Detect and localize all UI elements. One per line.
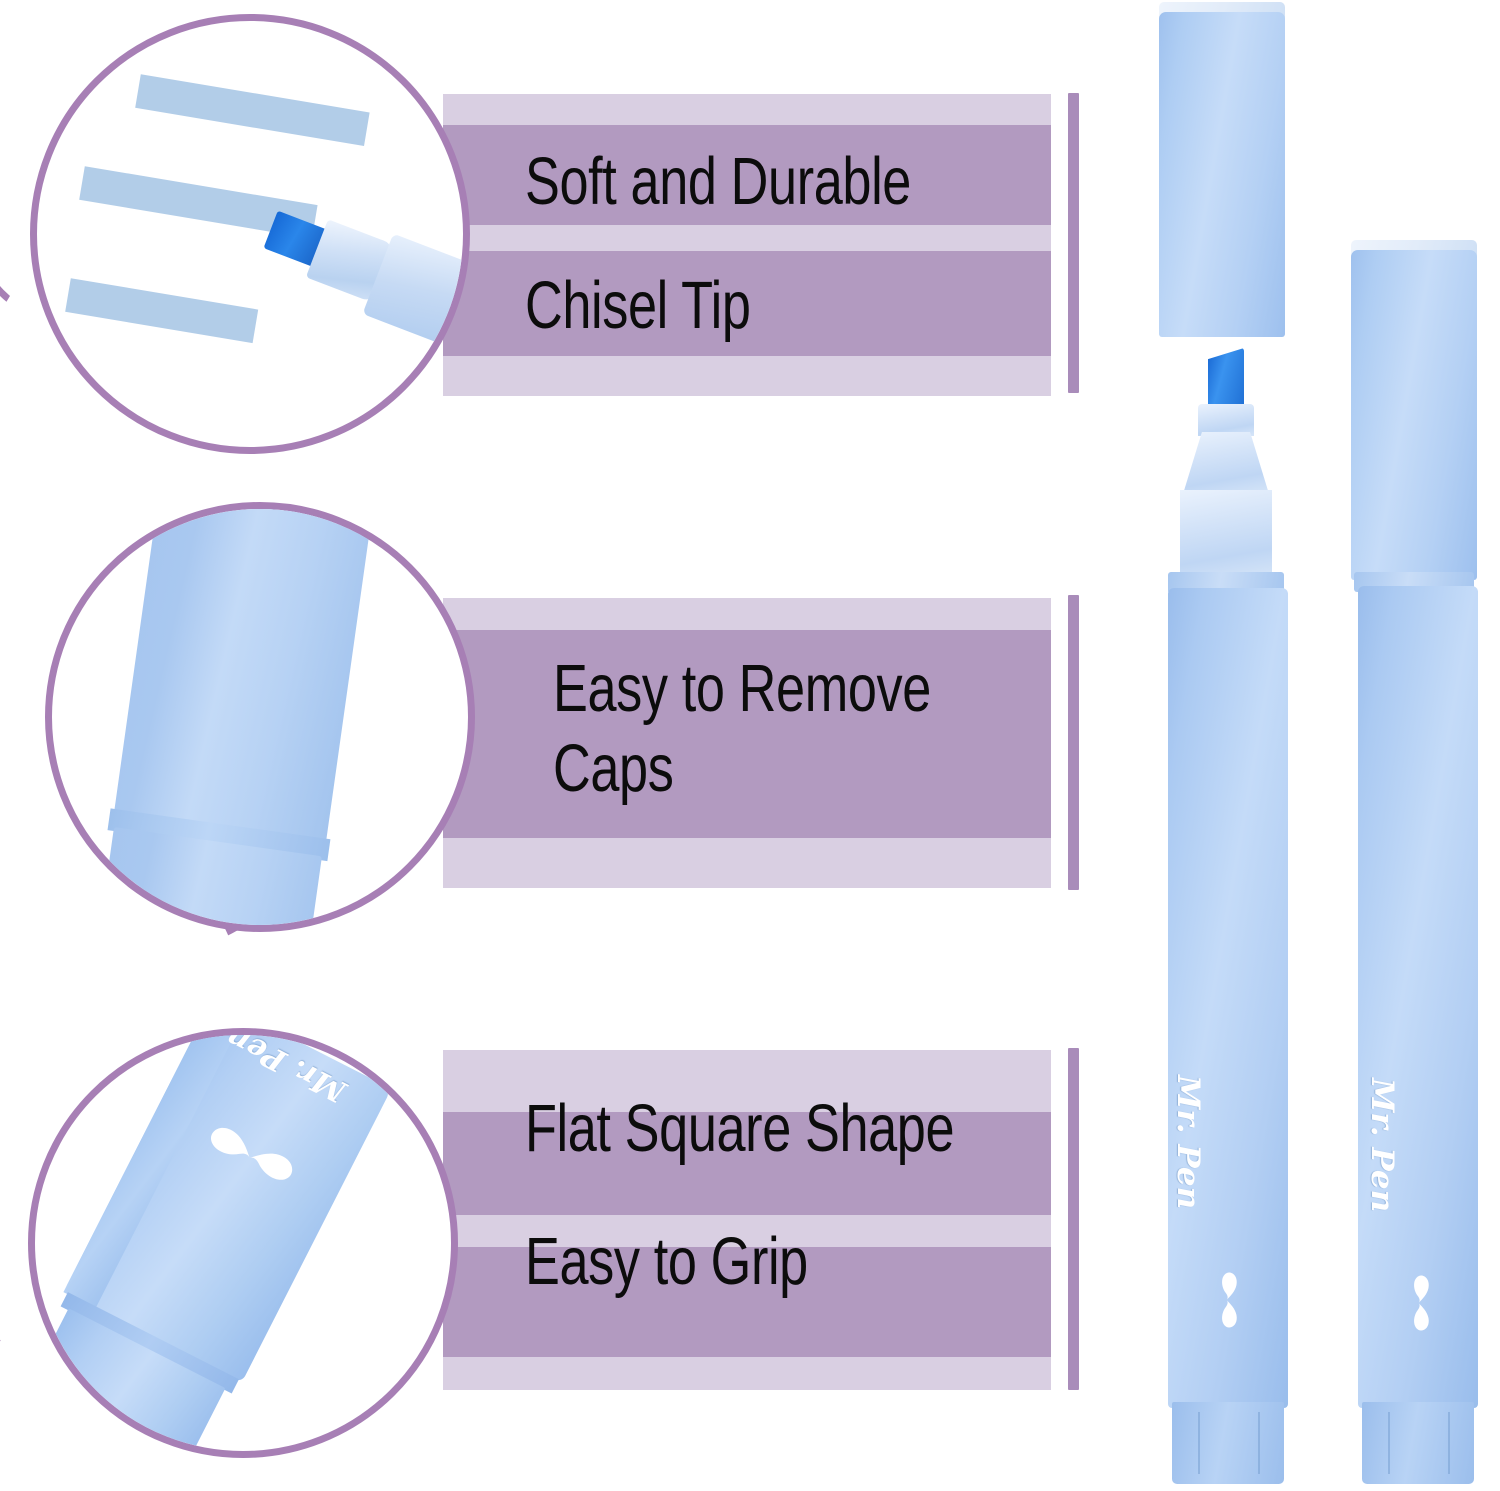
feature-banner-chisel-tip bbox=[443, 94, 1051, 396]
marker-cap-icon bbox=[114, 502, 372, 843]
feature-banner-remove-caps bbox=[443, 598, 1051, 888]
feature-accent-bar bbox=[1068, 595, 1079, 890]
pen-foot bbox=[1172, 1402, 1284, 1484]
pen-foot-seam bbox=[1388, 1412, 1390, 1474]
mustache-icon bbox=[1174, 1269, 1284, 1331]
marker-cone bbox=[1198, 404, 1254, 436]
banner-stripe-light bbox=[443, 598, 1051, 630]
marker-cone-base bbox=[1180, 490, 1272, 578]
banner-stripe-light bbox=[443, 225, 1051, 251]
feature-block-flat-square: Flat Square Shape Easy to Grip Mr. Pen bbox=[0, 1010, 1100, 1480]
callout-circle-chisel-tip bbox=[30, 14, 470, 454]
product-pen-capped: Mr. Pen bbox=[1340, 0, 1500, 1491]
feature-accent-bar bbox=[1068, 93, 1079, 393]
highlighter-stroke bbox=[65, 278, 258, 343]
pen-foot bbox=[1362, 1402, 1474, 1484]
callout-circle-remove-caps bbox=[45, 502, 475, 932]
feature-headline-line-2: Chisel Tip bbox=[525, 272, 751, 339]
brand-logo-text: Mr. Pen bbox=[1364, 1078, 1400, 1212]
banner-stripe-light bbox=[443, 356, 1051, 396]
feature-accent-bar bbox=[1068, 1048, 1079, 1390]
feature-headline-line-1: Soft and Durable bbox=[525, 148, 911, 215]
pen-cap bbox=[1159, 12, 1285, 337]
pen-foot-seam bbox=[1198, 1412, 1200, 1474]
product-pen-uncapped: Mr. Pen bbox=[1150, 0, 1310, 1491]
brand-logo-text: Mr. Pen bbox=[1170, 1075, 1206, 1209]
feature-headline-line-1: Flat Square Shape bbox=[525, 1095, 954, 1162]
mustache-icon bbox=[1366, 1272, 1476, 1334]
pen-foot-seam bbox=[1448, 1412, 1450, 1474]
chisel-nib-icon bbox=[1208, 348, 1244, 410]
pen-cap bbox=[1351, 250, 1477, 580]
highlighter-stroke bbox=[135, 74, 369, 146]
feature-block-remove-caps: Easy to Remove Caps bbox=[0, 490, 1100, 960]
banner-stripe-light bbox=[443, 94, 1051, 125]
callout-circle-flat-square: Mr. Pen bbox=[28, 1028, 458, 1458]
feature-headline-line-1: Easy to Remove bbox=[553, 655, 931, 722]
pen-foot-seam bbox=[1258, 1412, 1260, 1474]
feature-headline-line-2: Easy to Grip bbox=[525, 1228, 808, 1295]
feature-block-chisel-tip: Soft and Durable Chisel Tip bbox=[0, 0, 1100, 470]
banner-stripe-light bbox=[443, 838, 1051, 888]
banner-stripe-light bbox=[443, 1357, 1051, 1390]
marker-cone bbox=[1183, 432, 1269, 494]
feature-headline-line-2: Caps bbox=[553, 735, 673, 802]
